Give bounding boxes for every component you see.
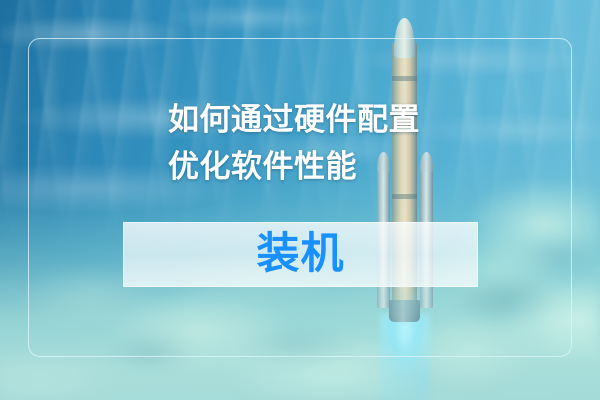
- cover-banner: 如何通过硬件配置 优化软件性能 装机: [0, 0, 600, 400]
- cta-label: 装机: [257, 233, 345, 276]
- cta-bar[interactable]: 装机: [123, 222, 478, 287]
- banner-title: 如何通过硬件配置 优化软件性能: [168, 96, 428, 190]
- banner-title-line-2: 优化软件性能: [168, 143, 428, 190]
- atmospheric-haze: [0, 0, 600, 400]
- banner-title-line-1: 如何通过硬件配置: [168, 96, 428, 143]
